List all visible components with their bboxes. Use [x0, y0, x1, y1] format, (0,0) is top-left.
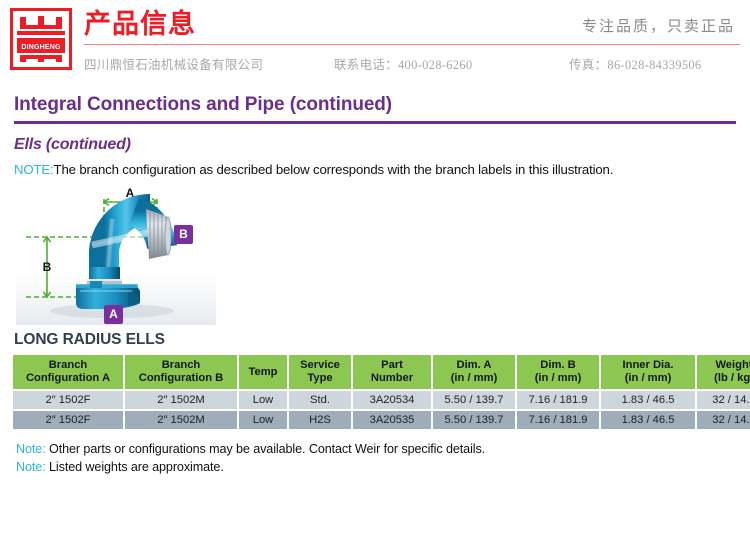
- col-part-number: Part Number: [353, 355, 431, 389]
- col-line1: Weight: [715, 359, 750, 371]
- logo-wordmark: DINGHENG: [17, 42, 65, 53]
- footnote-text: Other parts or configurations may be ava…: [49, 442, 485, 456]
- header-content: 产品信息 专注品质，只卖正品 四川鼎恒石油机械设备有限公司 联系电话：400-0…: [84, 8, 740, 73]
- table-row: 2″ 1502F 2″ 1502M Low Std. 3A20534 5.50 …: [13, 391, 750, 409]
- col-line1: Branch: [162, 359, 201, 371]
- col-line2: (in / mm): [535, 372, 582, 384]
- footnote-keyword: Note:: [16, 442, 46, 456]
- threaded-male-end: [146, 209, 171, 259]
- long-radius-ells-table: Branch Configuration A Branch Configurat…: [11, 353, 750, 431]
- logo-bar-upper: [17, 31, 65, 35]
- table-header-row: Branch Configuration A Branch Configurat…: [13, 355, 750, 389]
- logo-top-strokes: [20, 16, 62, 29]
- cell-part-number: 3A20535: [353, 411, 431, 429]
- cell-branch-b: 2″ 1502M: [125, 391, 237, 409]
- col-dim-a: Dim. A (in / mm): [433, 355, 515, 389]
- table-heading: LONG RADIUS ELLS: [0, 325, 750, 353]
- col-line2: (in / mm): [625, 372, 672, 384]
- cell-dim-a: 5.50 / 139.7: [433, 391, 515, 409]
- col-line2: Number: [371, 372, 413, 384]
- note-keyword: NOTE:: [14, 162, 54, 177]
- logo-mark-icon: DINGHENG: [17, 15, 65, 63]
- company-name: 四川鼎恒石油机械设备有限公司: [84, 54, 334, 73]
- col-line1: Part: [381, 359, 403, 371]
- table-row: 2″ 1502F 2″ 1502M Low H2S 3A20535 5.50 /…: [13, 411, 750, 429]
- logo-bottom-strokes: [20, 55, 62, 62]
- cell-branch-a: 2″ 1502F: [13, 411, 123, 429]
- cell-inner-dia: 1.83 / 46.5: [601, 411, 695, 429]
- col-dim-b: Dim. B (in / mm): [517, 355, 599, 389]
- cell-temp: Low: [239, 391, 287, 409]
- cell-temp: Low: [239, 411, 287, 429]
- col-line1: Dim. B: [540, 359, 575, 371]
- footnote-item: Note: Listed weights are approximate.: [16, 459, 750, 477]
- col-line2: Configuration A: [26, 372, 110, 384]
- cell-part-number: 3A20534: [353, 391, 431, 409]
- col-inner-dia: Inner Dia. (in / mm): [601, 355, 695, 389]
- col-line1: Branch: [49, 359, 88, 371]
- cell-branch-b: 2″ 1502M: [125, 411, 237, 429]
- col-line2: (lb / kg): [714, 372, 750, 384]
- col-line2: Configuration B: [139, 372, 224, 384]
- contact-fax: 传真：86-028-84339506: [569, 54, 735, 73]
- badge-b: B: [174, 225, 193, 244]
- pipe-elbow-svg: A B: [16, 185, 216, 325]
- col-line1: Inner Dia.: [623, 359, 674, 371]
- pipe-elbow-illustration: A B: [16, 185, 216, 325]
- page-title: Integral Connections and Pipe (continued…: [14, 94, 736, 121]
- col-service-type: Service Type: [289, 355, 351, 389]
- footnotes: Note: Other parts or configurations may …: [0, 431, 750, 477]
- cell-service-type: H2S: [289, 411, 351, 429]
- cell-branch-a: 2″ 1502F: [13, 391, 123, 409]
- cell-dim-a: 5.50 / 139.7: [433, 411, 515, 429]
- section-title: Ells (continued): [14, 136, 736, 154]
- brand-tagline: 专注品质，只卖正品: [582, 15, 735, 38]
- cell-weight: 32 / 14.5: [697, 411, 750, 429]
- section-block: Ells (continued) NOTE:The branch configu…: [0, 124, 750, 177]
- cell-dim-b: 7.16 / 181.9: [517, 411, 599, 429]
- header-contact-row: 四川鼎恒石油机械设备有限公司 联系电话：400-028-6260 传真：86-0…: [84, 45, 740, 73]
- brand-title: 产品信息: [84, 10, 196, 38]
- cell-weight: 32 / 14.5: [697, 391, 750, 409]
- dingheng-logo[interactable]: DINGHENG: [10, 8, 72, 70]
- col-temp: Temp: [239, 355, 287, 389]
- footnote-keyword: Note:: [16, 460, 46, 474]
- badge-a: A: [104, 305, 123, 324]
- site-header: DINGHENG 产品信息 专注品质，只卖正品 四川鼎恒石油机械设备有限公司 联…: [0, 0, 750, 90]
- header-top-row: 产品信息 专注品质，只卖正品: [84, 10, 740, 38]
- col-branch-configuration-b: Branch Configuration B: [125, 355, 237, 389]
- footnote-text: Listed weights are approximate.: [49, 460, 224, 474]
- note-text: The branch configuration as described be…: [54, 162, 614, 177]
- cell-inner-dia: 1.83 / 46.5: [601, 391, 695, 409]
- col-branch-configuration-a: Branch Configuration A: [13, 355, 123, 389]
- cell-dim-b: 7.16 / 181.9: [517, 391, 599, 409]
- footnote-item: Note: Other parts or configurations may …: [16, 441, 750, 459]
- illustration-note: NOTE:The branch configuration as describ…: [14, 162, 736, 177]
- dimension-b-label: B: [43, 260, 52, 274]
- col-line2: Type: [307, 372, 332, 384]
- col-line1: Temp: [248, 366, 277, 378]
- document-title-block: Integral Connections and Pipe (continued…: [0, 90, 750, 124]
- cell-service-type: Std.: [289, 391, 351, 409]
- contact-phone: 联系电话：400-028-6260: [334, 54, 569, 73]
- col-line1: Service: [300, 359, 340, 371]
- col-weight: Weight (lb / kg): [697, 355, 750, 389]
- col-line1: Dim. A: [456, 359, 491, 371]
- col-line2: (in / mm): [451, 372, 498, 384]
